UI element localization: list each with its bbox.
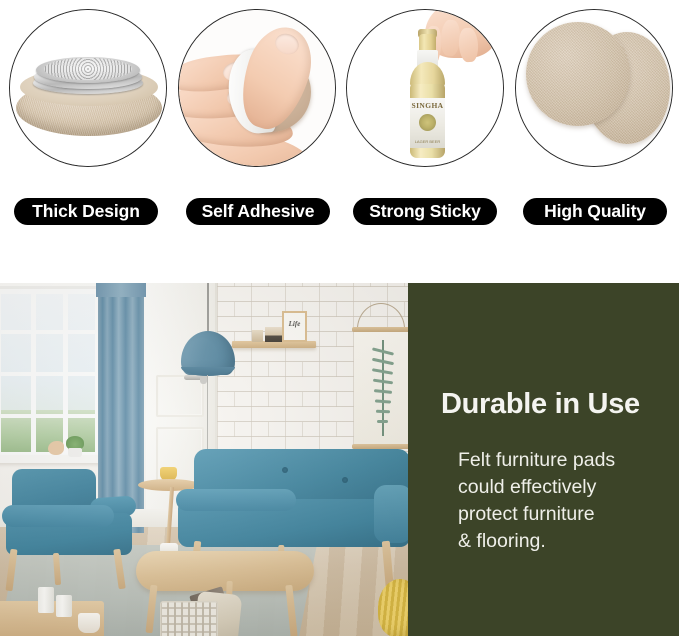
living-room-photo: Life	[0, 283, 410, 636]
window	[0, 289, 100, 457]
decor-bird-figurine	[48, 441, 64, 455]
feature-circle-thick-design	[9, 9, 167, 167]
product-infographic: SINGHA LAGER BEER Thick Design Self Adhe…	[0, 0, 679, 636]
coins-on-felt-pad-icon	[10, 10, 166, 166]
yellow-pouf	[378, 579, 410, 636]
bottle-crest-icon	[419, 114, 436, 131]
potted-plant	[64, 435, 86, 457]
bottle-label-subtext: LAGER BEER	[410, 139, 445, 144]
panel-heading: Durable in Use	[441, 388, 671, 421]
fern-leaf	[376, 410, 390, 413]
candle	[38, 587, 54, 613]
bottom-section: Life	[0, 283, 679, 636]
armchair-leg	[5, 549, 17, 592]
feature-label-thick-design: Thick Design	[14, 198, 158, 225]
armchair-leg	[53, 553, 61, 585]
panel-body-line: protect furniture	[458, 501, 673, 528]
plant-pot	[68, 448, 82, 457]
wall-shelf	[232, 341, 316, 348]
shelf-decor-canister	[265, 327, 282, 342]
two-felt-pads-icon	[516, 10, 672, 166]
foreground-cup	[78, 613, 100, 633]
candle	[56, 595, 72, 617]
bottle-label: SINGHA LAGER BEER	[410, 98, 445, 148]
bottle-brand-text: SINGHA	[410, 101, 445, 110]
hand-lifting-bottle-icon: SINGHA LAGER BEER	[347, 10, 503, 166]
panel-body-line: & flooring.	[458, 528, 673, 555]
fern-leaf	[375, 399, 391, 403]
pendant-lamp-cord	[207, 283, 209, 333]
coin-emboss-detail	[44, 58, 132, 80]
woven-storage-basket	[160, 601, 218, 636]
curtain-rod-header	[96, 283, 146, 297]
hand-peeling-backing-icon	[179, 10, 335, 166]
picture-frame-text: Life	[284, 320, 305, 328]
picture-frame: Life	[282, 311, 307, 342]
coffee-table-leg	[146, 585, 158, 633]
feature-strip: SINGHA LAGER BEER Thick Design Self Adhe…	[0, 0, 679, 283]
panel-body: Felt furniture pads could effectively pr…	[458, 447, 673, 555]
beer-bottle: SINGHA LAGER BEER	[403, 34, 451, 158]
shelf-decor-box	[252, 330, 263, 342]
armchair-arm-front	[2, 505, 114, 527]
hanging-poster-sheet	[354, 332, 408, 444]
feature-label-strong-sticky: Strong Sticky	[353, 198, 497, 225]
door-panel-upper	[156, 375, 204, 417]
felt-pad-front	[526, 22, 630, 126]
feature-label-high-quality: High Quality	[523, 198, 667, 225]
coffee-table-leg	[285, 585, 297, 636]
window-mullion-horizontal	[1, 330, 95, 334]
feature-label-self-adhesive: Self Adhesive	[186, 198, 330, 225]
fern-wall-hanging	[352, 327, 410, 467]
sofa-arm-left	[176, 489, 296, 511]
window-sill	[0, 455, 104, 463]
fern-leaf	[377, 420, 388, 423]
feature-circle-self-adhesive	[178, 9, 336, 167]
feature-circle-high-quality	[515, 9, 673, 167]
sofa-button-tuft	[342, 477, 348, 483]
message-panel: Durable in Use Felt furniture pads could…	[408, 283, 679, 636]
panel-body-line: could effectively	[458, 474, 673, 501]
panel-body-line: Felt furniture pads	[458, 447, 673, 474]
sofa-arm-right	[374, 485, 410, 543]
fern-print-icon	[372, 340, 394, 436]
teal-armchair	[4, 469, 144, 599]
sofa-button-tuft	[282, 467, 288, 473]
window-mullion-horizontal	[1, 414, 95, 418]
window-mullion-horizontal	[1, 372, 95, 376]
feature-circle-strong-sticky: SINGHA LAGER BEER	[346, 9, 504, 167]
